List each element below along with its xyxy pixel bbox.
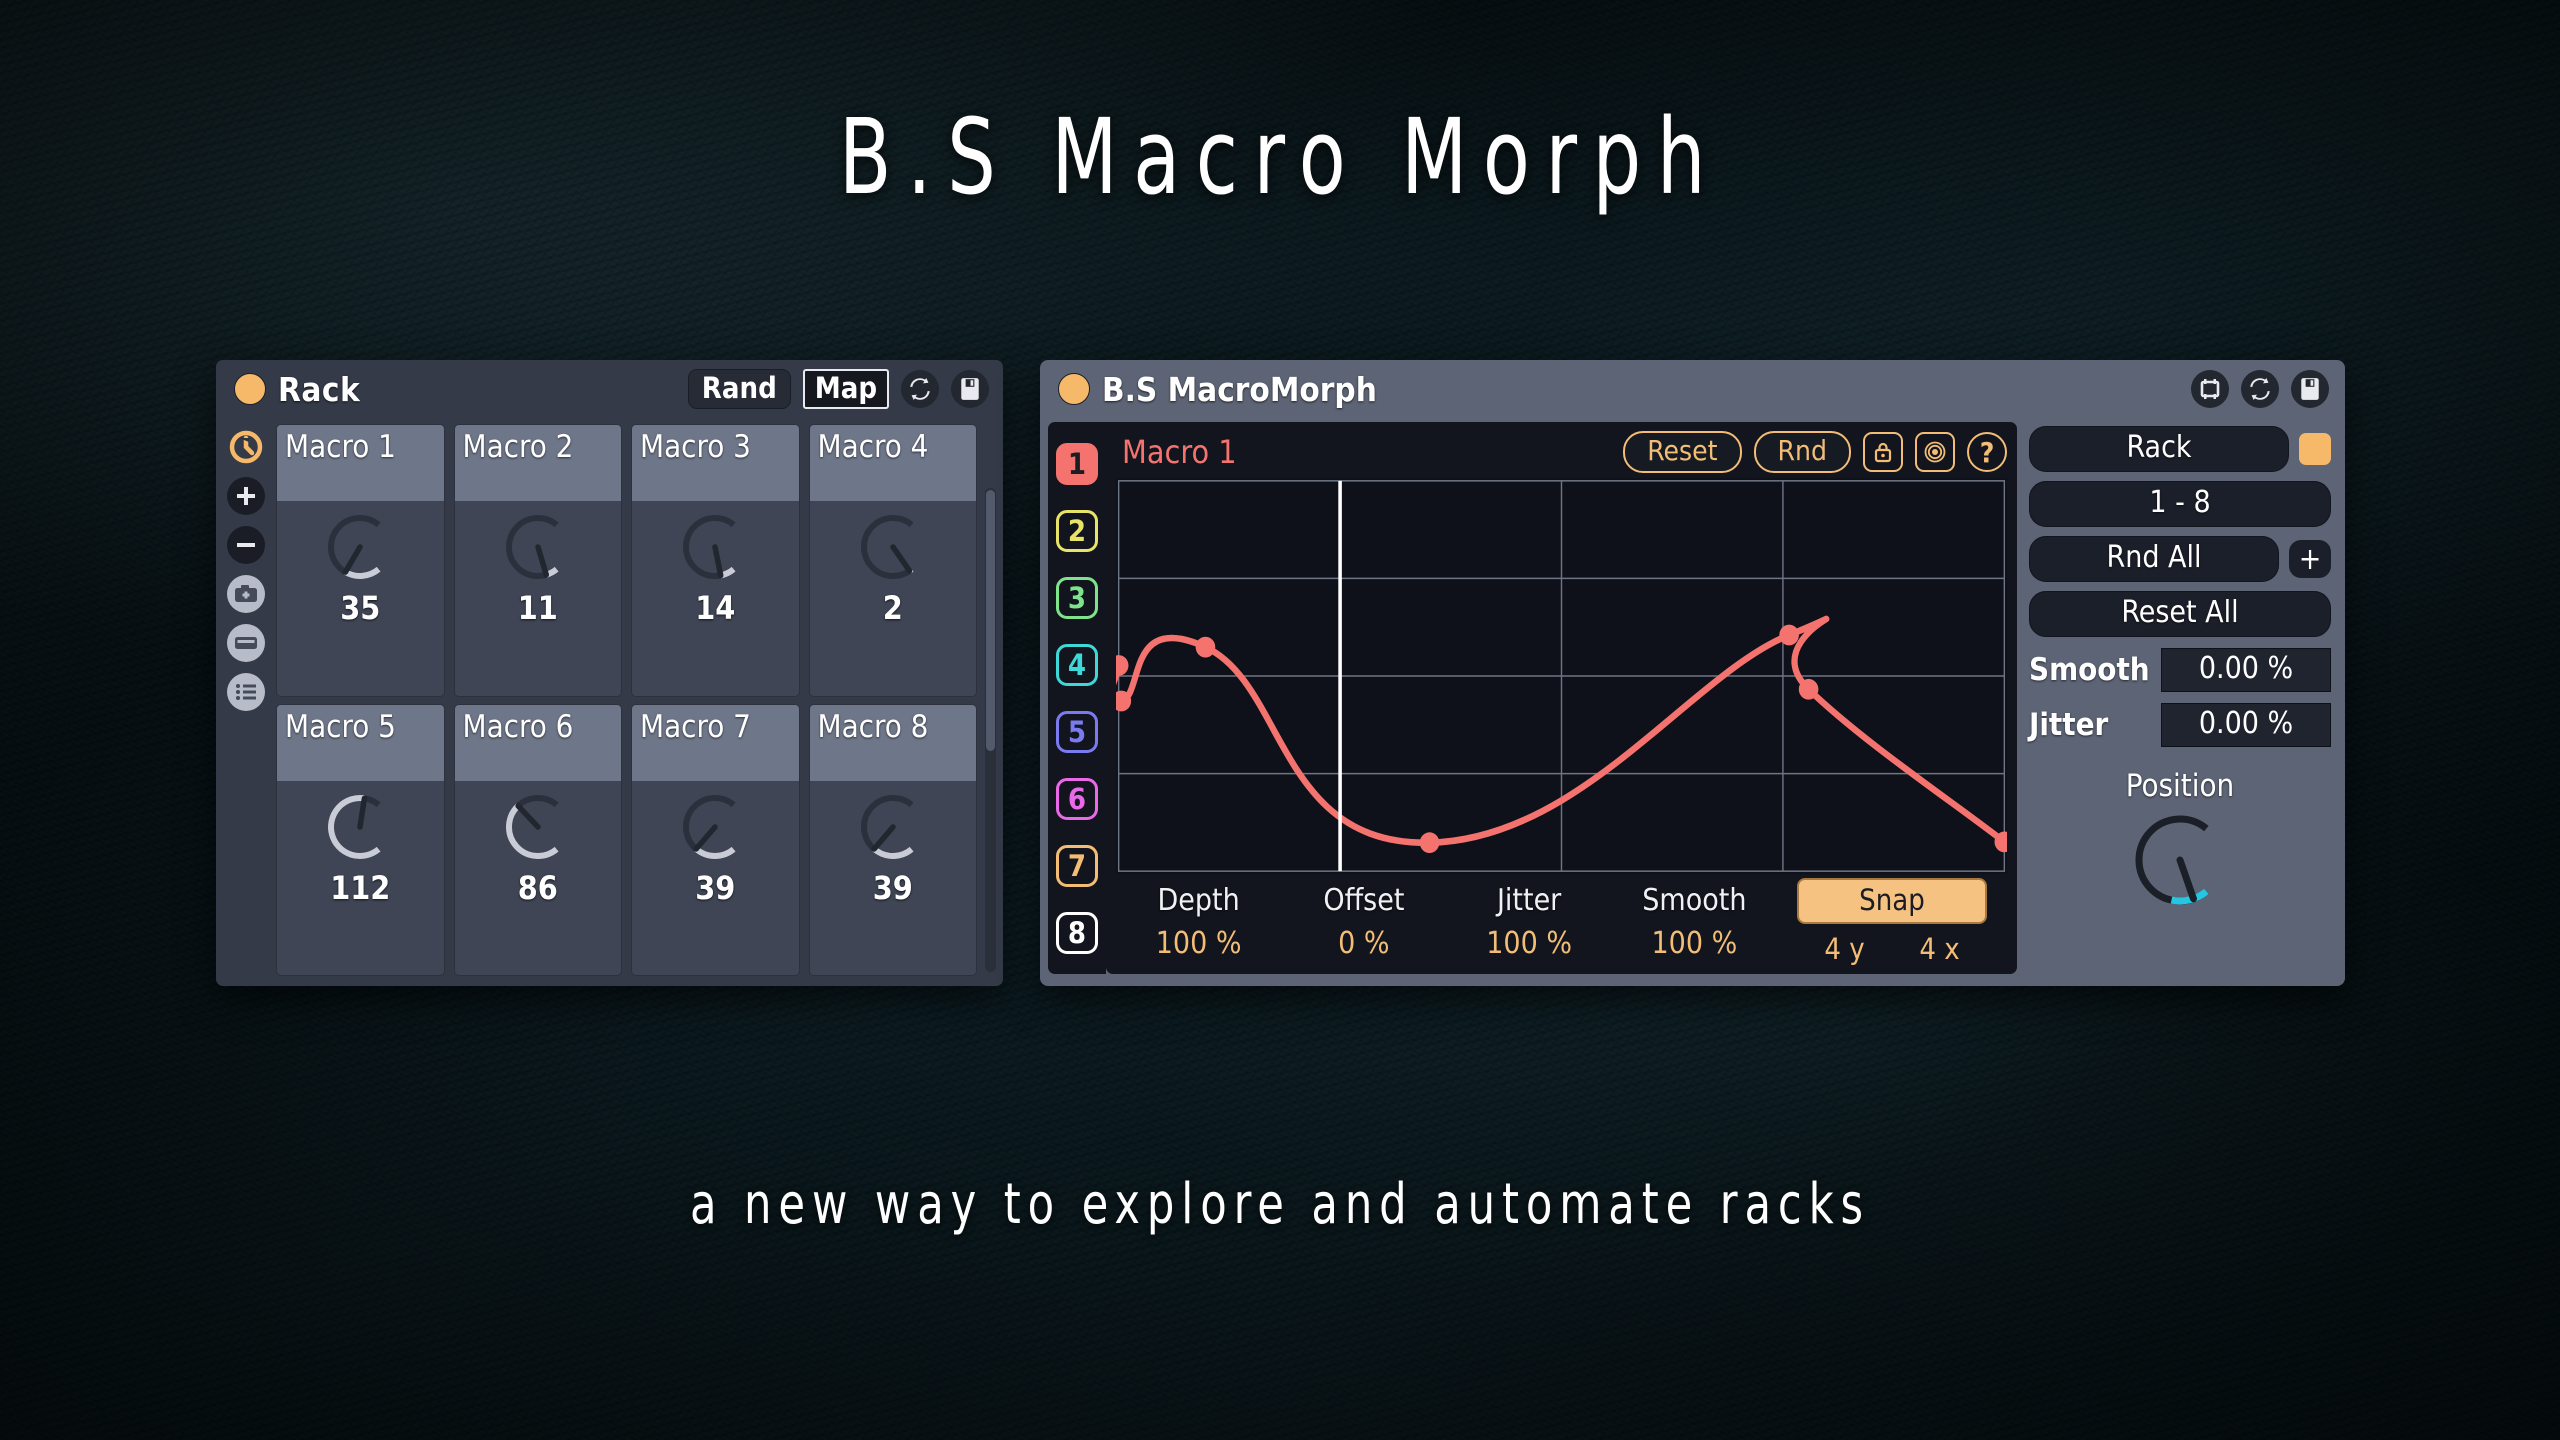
snap-values: 4 y 4 x bbox=[1797, 932, 1987, 966]
macro-knob[interactable] bbox=[490, 787, 586, 873]
rnd-all-row: Rnd All + bbox=[2029, 536, 2331, 582]
macro-name-box[interactable]: Macro 3 bbox=[632, 425, 799, 501]
morph-curve-chart[interactable] bbox=[1116, 478, 2007, 874]
curve-parameters: Depth 100 % Offset 0 % Jitter 100 % Smoo… bbox=[1116, 874, 2007, 966]
macro-selector-3[interactable]: 3 bbox=[1056, 577, 1098, 619]
macro-name-box[interactable]: Macro 5 bbox=[277, 705, 444, 781]
param-offset[interactable]: Offset 0 % bbox=[1281, 883, 1446, 961]
macro-grid: Macro 135Macro 211Macro 314Macro 42Macro… bbox=[276, 424, 1003, 976]
rand-button[interactable]: Rand bbox=[688, 369, 791, 409]
minus-icon[interactable] bbox=[227, 526, 265, 564]
curve-editor-header: Macro 1 Reset Rnd bbox=[1116, 428, 2007, 476]
position-label: Position bbox=[2126, 768, 2234, 804]
param-jitter[interactable]: Jitter 100 % bbox=[1447, 883, 1612, 961]
target-icon[interactable] bbox=[1915, 432, 1955, 472]
macro-cell[interactable]: Macro 135 bbox=[276, 424, 445, 697]
macro-knob[interactable] bbox=[845, 787, 941, 873]
macro-knob-area[interactable]: 86 bbox=[455, 781, 622, 976]
param-jitter-label: Jitter bbox=[1447, 883, 1612, 918]
macro-knob-area[interactable]: 39 bbox=[632, 781, 799, 976]
macro-name: Macro 7 bbox=[640, 709, 751, 745]
macro-knob[interactable] bbox=[312, 507, 408, 593]
jitter-field[interactable]: 0.00 % bbox=[2161, 703, 2331, 747]
macro-selector-2[interactable]: 2 bbox=[1056, 510, 1098, 552]
param-offset-label: Offset bbox=[1281, 883, 1446, 918]
snap-x-value[interactable]: 4 x bbox=[1919, 932, 1959, 966]
jitter-label: Jitter bbox=[2029, 707, 2149, 743]
macro-knob-area[interactable]: 112 bbox=[277, 781, 444, 976]
macro-power-icon[interactable] bbox=[227, 428, 265, 466]
reset-all-row: Reset All bbox=[2029, 591, 2331, 637]
snap-y-value[interactable]: 4 y bbox=[1824, 932, 1864, 966]
macro-name-box[interactable]: Macro 2 bbox=[455, 425, 622, 501]
param-depth-value[interactable]: 100 % bbox=[1116, 926, 1281, 961]
macro-value: 86 bbox=[518, 869, 558, 907]
macro-name-box[interactable]: Macro 8 bbox=[810, 705, 977, 781]
help-icon[interactable]: ? bbox=[1967, 432, 2007, 472]
bar-rectangle-icon[interactable] bbox=[227, 624, 265, 662]
macro-selector-label: 6 bbox=[1068, 782, 1086, 816]
rack-scrollbar-thumb[interactable] bbox=[986, 490, 995, 751]
macro-name-box[interactable]: Macro 7 bbox=[632, 705, 799, 781]
rack-panel: Rack Rand Map bbox=[216, 360, 1003, 986]
param-offset-value[interactable]: 0 % bbox=[1281, 926, 1446, 961]
selected-macro-label: Macro 1 bbox=[1116, 433, 1611, 471]
device-frame-icon[interactable] bbox=[2191, 370, 2229, 408]
macro-name: Macro 8 bbox=[818, 709, 929, 745]
macro-cell[interactable]: Macro 211 bbox=[454, 424, 623, 697]
macro-selector-8[interactable]: 8 bbox=[1056, 912, 1098, 954]
reset-button[interactable]: Reset bbox=[1623, 431, 1741, 473]
smooth-label: Smooth bbox=[2029, 652, 2149, 688]
macro-selector-4[interactable]: 4 bbox=[1056, 644, 1098, 686]
macro-selector-5[interactable]: 5 bbox=[1056, 711, 1098, 753]
range-row: 1 - 8 bbox=[2029, 481, 2331, 527]
macro-name: Macro 3 bbox=[640, 429, 751, 465]
macro-name: Macro 2 bbox=[463, 429, 574, 465]
rack-led-indicator[interactable] bbox=[234, 373, 266, 405]
macro-cell[interactable]: Macro 739 bbox=[631, 704, 800, 977]
macro-value: 39 bbox=[873, 869, 913, 907]
snap-button[interactable]: Snap bbox=[1797, 878, 1987, 924]
macro-name: Macro 5 bbox=[285, 709, 396, 745]
macro-knob[interactable] bbox=[312, 787, 408, 873]
macromorph-panel: B.S MacroMorph 12345678 bbox=[1040, 360, 2345, 986]
param-smooth-value[interactable]: 100 % bbox=[1612, 926, 1777, 961]
macro-name: Macro 1 bbox=[285, 429, 396, 465]
macro-name: Macro 6 bbox=[463, 709, 574, 745]
macro-selector-6[interactable]: 6 bbox=[1056, 778, 1098, 820]
page-title: B.S Macro Morph bbox=[230, 96, 2329, 218]
macro-selector-7[interactable]: 7 bbox=[1056, 845, 1098, 887]
macromorph-titlebar: B.S MacroMorph bbox=[1040, 360, 2345, 418]
macromorph-body: 12345678 Macro 1 Reset Rnd bbox=[1040, 418, 2345, 986]
position-control: Position bbox=[2029, 768, 2331, 921]
macro-cell[interactable]: Macro 839 bbox=[809, 704, 978, 977]
curve-canvas-wrapper[interactable] bbox=[1116, 478, 2007, 874]
macro-name-box[interactable]: Macro 4 bbox=[810, 425, 977, 501]
macro-knob-area[interactable]: 35 bbox=[277, 501, 444, 696]
list-icon[interactable] bbox=[227, 673, 265, 711]
macro-knob-area[interactable]: 2 bbox=[810, 501, 977, 696]
rnd-button[interactable]: Rnd bbox=[1754, 431, 1851, 473]
rack-scrollbar[interactable] bbox=[985, 488, 996, 972]
macro-selector-label: 1 bbox=[1068, 447, 1086, 481]
map-button[interactable]: Map bbox=[803, 369, 889, 409]
smooth-field[interactable]: 0.00 % bbox=[2161, 648, 2331, 692]
macro-value: 2 bbox=[883, 589, 903, 627]
macro-knob[interactable] bbox=[490, 507, 586, 593]
macro-value: 112 bbox=[330, 869, 390, 907]
rnd-all-button[interactable]: Rnd All bbox=[2029, 536, 2279, 582]
param-depth-label: Depth bbox=[1116, 883, 1281, 918]
rack-toolbar bbox=[216, 424, 276, 976]
curve-editor: Macro 1 Reset Rnd bbox=[1106, 422, 2017, 974]
rack-body: Macro 135Macro 211Macro 314Macro 42Macro… bbox=[216, 418, 1003, 986]
macro-selector-label: 4 bbox=[1068, 648, 1086, 682]
macro-knob[interactable] bbox=[845, 507, 941, 593]
macro-knob-area[interactable]: 39 bbox=[810, 781, 977, 976]
macro-cell[interactable]: Macro 686 bbox=[454, 704, 623, 977]
macromorph-title: B.S MacroMorph bbox=[1102, 370, 2179, 409]
save-disk-icon[interactable] bbox=[2291, 370, 2329, 408]
macro-selector-label: 3 bbox=[1068, 581, 1086, 615]
macromorph-led-indicator[interactable] bbox=[1058, 373, 1090, 405]
macro-cell[interactable]: Macro 42 bbox=[809, 424, 978, 697]
macro-selector-column: 12345678 bbox=[1048, 422, 1106, 974]
macro-knob[interactable] bbox=[667, 507, 763, 593]
rack-row: Rack bbox=[2029, 426, 2331, 472]
macro-cell[interactable]: Macro 314 bbox=[631, 424, 800, 697]
refresh-cycle-icon[interactable] bbox=[901, 370, 939, 408]
param-depth[interactable]: Depth 100 % bbox=[1116, 883, 1281, 961]
rack-title: Rack bbox=[278, 370, 676, 409]
macro-selector-label: 8 bbox=[1068, 916, 1086, 950]
param-smooth[interactable]: Smooth 100 % bbox=[1612, 883, 1777, 961]
add-icon[interactable]: + bbox=[2289, 540, 2331, 578]
param-smooth-label: Smooth bbox=[1612, 883, 1777, 918]
macro-selector-label: 5 bbox=[1068, 715, 1086, 749]
camera-add-icon[interactable] bbox=[227, 575, 265, 613]
lock-icon[interactable] bbox=[1863, 432, 1903, 472]
save-disk-icon[interactable] bbox=[951, 370, 989, 408]
rack-titlebar: Rack Rand Map bbox=[216, 360, 1003, 418]
snap-group: Snap 4 y 4 x bbox=[1777, 878, 2007, 966]
position-knob[interactable] bbox=[2119, 804, 2241, 921]
macro-value: 14 bbox=[695, 589, 735, 627]
rack-color-swatch[interactable] bbox=[2299, 433, 2331, 465]
macro-name-box[interactable]: Macro 1 bbox=[277, 425, 444, 501]
macro-name: Macro 4 bbox=[818, 429, 929, 465]
macro-knob-area[interactable]: 14 bbox=[632, 501, 799, 696]
macro-value: 11 bbox=[518, 589, 558, 627]
macro-value: 35 bbox=[340, 589, 380, 627]
macro-value: 39 bbox=[695, 869, 735, 907]
page-subtitle: a new way to explore and automate racks bbox=[179, 1172, 2381, 1237]
macro-selector-1[interactable]: 1 bbox=[1056, 443, 1098, 485]
macro-knob[interactable] bbox=[667, 787, 763, 873]
reset-all-button[interactable]: Reset All bbox=[2029, 591, 2331, 637]
refresh-cycle-icon[interactable] bbox=[2241, 370, 2279, 408]
macro-name-box[interactable]: Macro 6 bbox=[455, 705, 622, 781]
param-jitter-value[interactable]: 100 % bbox=[1447, 926, 1612, 961]
macro-knob-area[interactable]: 11 bbox=[455, 501, 622, 696]
rack-select-button[interactable]: Rack bbox=[2029, 426, 2289, 472]
macro-selector-label: 7 bbox=[1068, 849, 1086, 883]
macro-selector-label: 2 bbox=[1068, 514, 1086, 548]
smooth-row: Smooth 0.00 % bbox=[2029, 648, 2331, 692]
macro-cell[interactable]: Macro 5112 bbox=[276, 704, 445, 977]
plus-icon[interactable] bbox=[227, 477, 265, 515]
jitter-row: Jitter 0.00 % bbox=[2029, 703, 2331, 747]
macromorph-side-controls: Rack 1 - 8 Rnd All + Reset All Smooth 0.… bbox=[2027, 422, 2335, 974]
macro-range-button[interactable]: 1 - 8 bbox=[2029, 481, 2331, 527]
